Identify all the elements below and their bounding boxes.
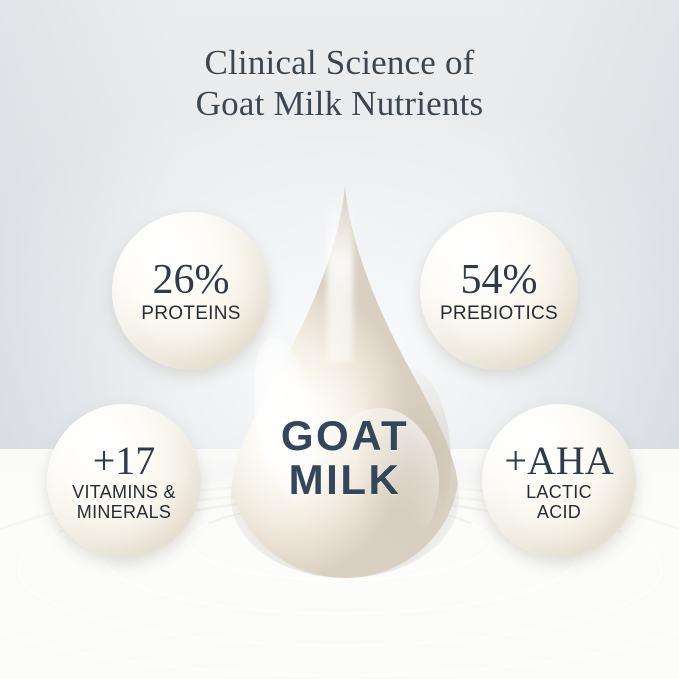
- nutrient-sphere-proteins: 26% PROTEINS: [112, 212, 270, 370]
- nutrient-label-proteins: PROTEINS: [141, 303, 241, 324]
- nutrient-label-prebiotics-line1: PREBIOTICS: [440, 303, 558, 324]
- nutrient-value-vitamins: +17: [93, 441, 156, 481]
- nutrient-label-prebiotics: PREBIOTICS: [440, 303, 558, 324]
- milk-drop-label: GOAT MILK: [231, 414, 459, 502]
- nutrient-value-proteins: 26%: [153, 258, 230, 302]
- nutrient-label-aha-line2: ACID: [526, 502, 592, 522]
- nutrient-label-vitamins: VITAMINS & MINERALS: [72, 482, 176, 522]
- nutrient-sphere-vitamins: +17 VITAMINS & MINERALS: [47, 404, 201, 558]
- milk-drop-label-line2: MILK: [231, 458, 459, 502]
- nutrient-label-vitamins-line2: MINERALS: [72, 502, 176, 522]
- nutrient-label-vitamins-line1: VITAMINS &: [72, 482, 176, 502]
- nutrient-value-prebiotics: 54%: [461, 258, 538, 302]
- page-title-line2: Goat Milk Nutrients: [0, 83, 679, 124]
- milk-drop: GOAT MILK: [231, 186, 459, 578]
- milk-drop-label-line1: GOAT: [281, 412, 409, 459]
- page-title: Clinical Science of Goat Milk Nutrients: [0, 42, 679, 124]
- page-title-line1: Clinical Science of: [204, 43, 474, 82]
- nutrient-label-aha-line1: LACTIC: [526, 482, 592, 502]
- nutrient-sphere-aha: +AHA LACTIC ACID: [482, 404, 636, 558]
- milk-drop-shape: [231, 186, 459, 578]
- nutrient-sphere-prebiotics: 54% PREBIOTICS: [420, 212, 578, 370]
- goat-milk-infographic: Clinical Science of Goat Milk Nutrients …: [0, 0, 679, 679]
- nutrient-label-aha: LACTIC ACID: [526, 482, 592, 522]
- nutrient-label-proteins-line1: PROTEINS: [141, 303, 241, 324]
- nutrient-value-aha: +AHA: [504, 441, 613, 481]
